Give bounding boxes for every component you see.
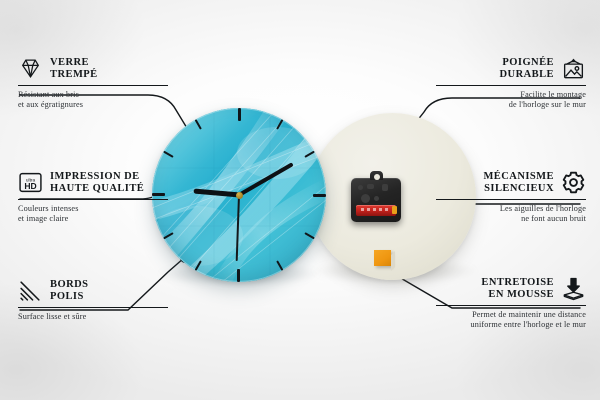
svg-text:HD: HD — [24, 181, 36, 191]
feature-description: Les aiguilles de l'horlogene font aucun … — [436, 204, 586, 224]
feature-heading: MÉCANISMESILENCIEUX — [436, 170, 586, 195]
movement-detail — [361, 194, 370, 203]
feature-description: Surface lisse et sûre — [18, 312, 168, 322]
battery — [356, 205, 396, 216]
picture-hanger-icon — [561, 56, 586, 81]
feature-poignee-durable: POIGNÉEDURABLE Facilite le montagede l'h… — [436, 56, 586, 110]
feature-description: Couleurs intenseset image claire — [18, 204, 168, 224]
foam-spacer-icon — [561, 276, 586, 301]
feature-divider — [436, 305, 586, 306]
feature-heading: ultra HD IMPRESSION DEHAUTE QUALITÉ — [18, 170, 168, 195]
feature-title: MÉCANISMESILENCIEUX — [483, 171, 554, 194]
feature-divider — [18, 307, 168, 308]
movement-detail — [374, 196, 379, 201]
hour-marker — [239, 194, 326, 196]
feature-description: Facilite le montagede l'horloge sur le m… — [436, 90, 586, 110]
hour-marker-bar — [238, 108, 241, 121]
movement-detail — [382, 184, 388, 191]
hour-marker — [238, 108, 240, 195]
ultra-hd-icon: ultra HD — [18, 170, 43, 195]
feature-title: BORDSPOLIS — [50, 279, 88, 302]
feature-heading: POIGNÉEDURABLE — [436, 56, 586, 81]
feature-title: VERRETREMPÉ — [50, 57, 98, 80]
polished-edge-icon — [18, 278, 43, 303]
battery-label — [361, 208, 389, 211]
feature-title: POIGNÉEDURABLE — [500, 57, 555, 80]
feature-entretoise-en-mousse: ENTRETOISEEN MOUSSE Permet de maintenir … — [436, 276, 586, 330]
feature-heading: VERRETREMPÉ — [18, 56, 168, 81]
foam-spacer — [374, 250, 391, 266]
feature-impression-haute-qualite: ultra HD IMPRESSION DEHAUTE QUALITÉ Coul… — [18, 170, 168, 224]
feature-mecanisme-silencieux: MÉCANISMESILENCIEUX Les aiguilles de l'h… — [436, 170, 586, 224]
feature-title: ENTRETOISEEN MOUSSE — [481, 277, 554, 300]
feature-bords-polis: BORDSPOLIS Surface lisse et sûre — [18, 278, 168, 322]
feature-divider — [18, 85, 168, 86]
hanger-tab — [370, 171, 383, 180]
feature-heading: ENTRETOISEEN MOUSSE — [436, 276, 586, 301]
hour-marker-bar — [313, 194, 326, 197]
feature-divider — [436, 199, 586, 200]
hands-center-cap — [236, 192, 243, 199]
movement-body — [351, 178, 401, 222]
feature-heading: BORDSPOLIS — [18, 278, 168, 303]
infographic-canvas: VERRETREMPÉ Résistant aux briset aux égr… — [0, 0, 600, 400]
feature-description: Permet de maintenir une distanceuniforme… — [436, 310, 586, 330]
gear-icon — [561, 170, 586, 195]
feature-title: IMPRESSION DEHAUTE QUALITÉ — [50, 171, 144, 194]
feature-description: Résistant aux briset aux égratignures — [18, 90, 168, 110]
diamond-icon — [18, 56, 43, 81]
feature-divider — [18, 199, 168, 200]
movement-detail — [367, 184, 374, 189]
quartz-movement — [351, 178, 401, 222]
feature-verre-trempe: VERRETREMPÉ Résistant aux briset aux égr… — [18, 56, 168, 110]
feature-divider — [436, 85, 586, 86]
clock-face — [152, 108, 326, 282]
movement-detail — [358, 185, 363, 190]
